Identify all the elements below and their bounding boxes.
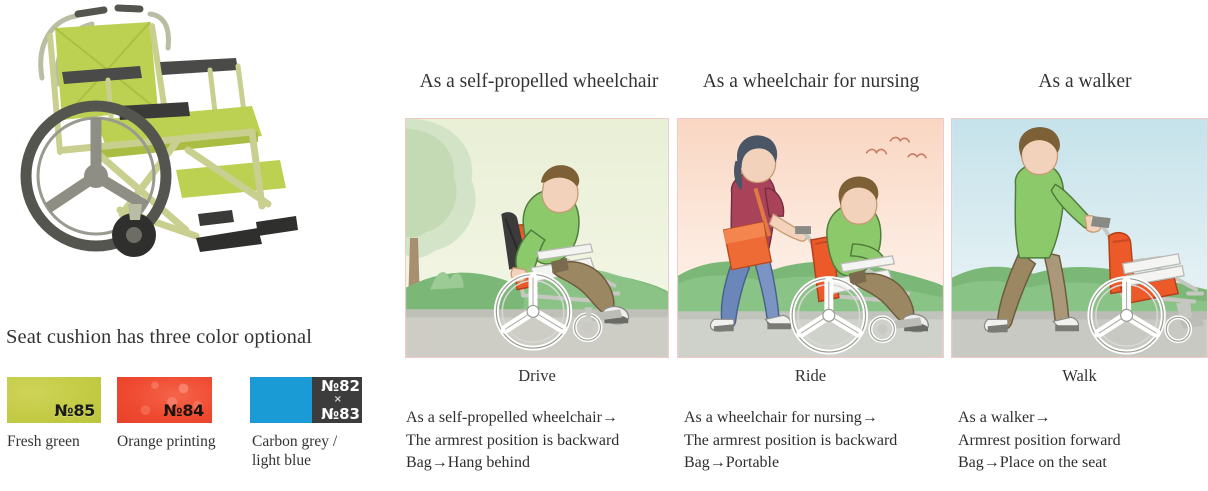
cushion-section-heading: Seat cushion has three color optional (6, 326, 312, 349)
swatch-orange: №84 (117, 377, 212, 423)
scenario-header-walker: As a walker (951, 71, 1208, 93)
panel-desc-drive-line2: The armrest position is backward (406, 430, 619, 453)
panel-desc-ride-line1: As a wheelchair for nursing→ (684, 407, 897, 430)
self-propelled-wheelchair-illustration (406, 119, 668, 357)
panel-caption-ride: Ride (677, 366, 944, 386)
nursing-wheelchair-illustration (678, 119, 943, 357)
panel-desc-drive-line1: As a self-propelled wheelchair→ (406, 407, 619, 430)
panel-desc-walk-line3: Bag→Place on the seat (958, 452, 1121, 475)
swatch-green-code: №85 (54, 401, 95, 420)
swatch-carbon-blue-caption-line2: light blue (252, 451, 337, 470)
panel-desc-drive-line3: Bag→Hang behind (406, 452, 619, 475)
panel-nursing (677, 118, 944, 358)
panel-caption-walk: Walk (951, 366, 1208, 386)
swatch-green: №85 (7, 377, 101, 423)
panel-caption-drive: Drive (405, 366, 669, 386)
panel-self-propelled (405, 118, 669, 358)
panel-desc-ride-line2: The armrest position is backward (684, 430, 897, 453)
swatch-green-color: №85 (7, 377, 101, 423)
panel-desc-walk-line2: Armrest position forward (958, 430, 1121, 453)
swatch-orange-caption: Orange printing (117, 432, 216, 451)
swatch-carbon-blue-color: №82 × №83 (250, 377, 362, 423)
scenario-header-nursing: As a wheelchair for nursing (677, 71, 945, 93)
swatch-carbon-blue-caption-line1: Carbon grey / (252, 432, 337, 451)
swatch-light-blue-half (250, 377, 312, 423)
panel-desc-walk-line1: As a walker→ (958, 407, 1121, 430)
swatch-code-82: №82 (321, 377, 360, 395)
panel-desc-drive: As a self-propelled wheelchair→ The armr… (406, 407, 619, 475)
swatch-carbon-blue: №82 × №83 (250, 377, 362, 423)
wheelchair-product-image (0, 0, 300, 300)
product-photo (0, 0, 300, 300)
walker-illustration (952, 119, 1207, 357)
swatch-code-83: №83 (321, 405, 360, 423)
panel-walker (951, 118, 1208, 358)
swatch-carbon-blue-caption: Carbon grey / light blue (252, 432, 337, 470)
scenario-header-self-propelled: As a self-propelled wheelchair (405, 71, 673, 93)
panel-desc-ride: As a wheelchair for nursing→ The armrest… (684, 407, 897, 475)
swatch-code-multiply: × (334, 394, 342, 405)
panel-desc-walk: As a walker→ Armrest position forward Ba… (958, 407, 1121, 475)
swatch-green-caption: Fresh green (7, 432, 80, 451)
swatch-orange-code: №84 (163, 401, 204, 420)
panel-desc-ride-line3: Bag→Portable (684, 452, 897, 475)
swatch-orange-color: №84 (117, 377, 212, 423)
